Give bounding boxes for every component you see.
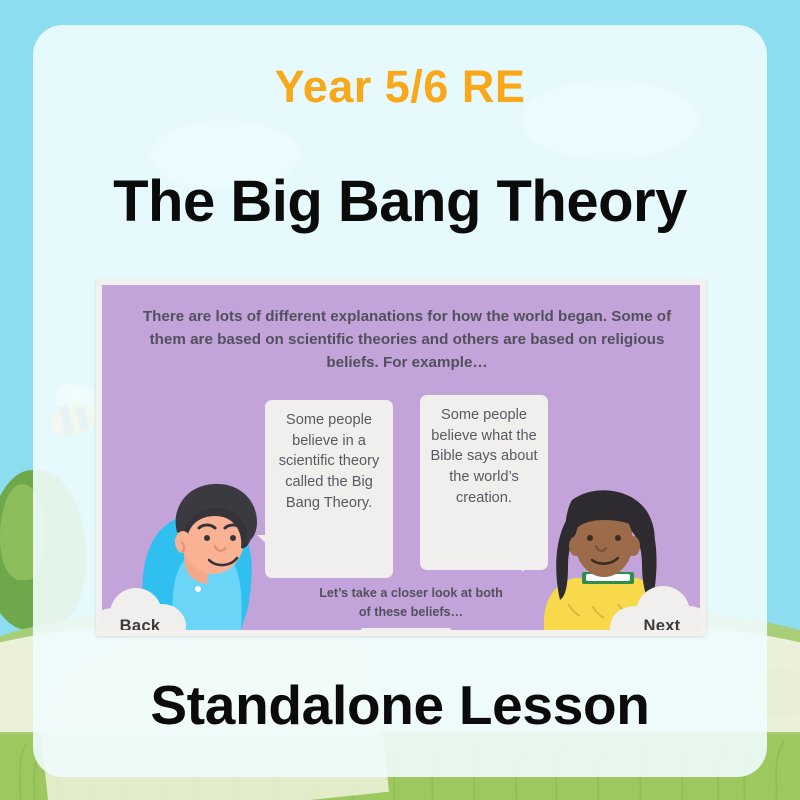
- slide-closing-text: Let’s take a closer look at both of thes…: [316, 584, 506, 621]
- slide-canvas: There are lots of different explanations…: [102, 285, 700, 630]
- watermark: www.planbee.com: [361, 628, 451, 630]
- lesson-type-title: Standalone Lesson: [33, 673, 767, 737]
- slide-intro-text: There are lots of different explanations…: [130, 305, 684, 374]
- background-scene: Year 5/6 RE The Big Bang Theory There ar…: [0, 0, 800, 800]
- slide-preview[interactable]: There are lots of different explanations…: [96, 279, 706, 636]
- subject-year-label: Year 5/6 RE: [33, 61, 767, 113]
- page-title: The Big Bang Theory: [33, 168, 767, 235]
- speech-bubble-left: Some people believe in a scientific theo…: [265, 400, 393, 578]
- next-button[interactable]: Next: [610, 582, 700, 630]
- lesson-card: Year 5/6 RE The Big Bang Theory There ar…: [33, 25, 767, 777]
- speech-bubble-right: Some people believe what the Bible says …: [420, 395, 548, 570]
- next-button-label: Next: [610, 617, 700, 630]
- back-button-label: Back: [102, 617, 192, 630]
- back-button[interactable]: Back: [102, 582, 192, 630]
